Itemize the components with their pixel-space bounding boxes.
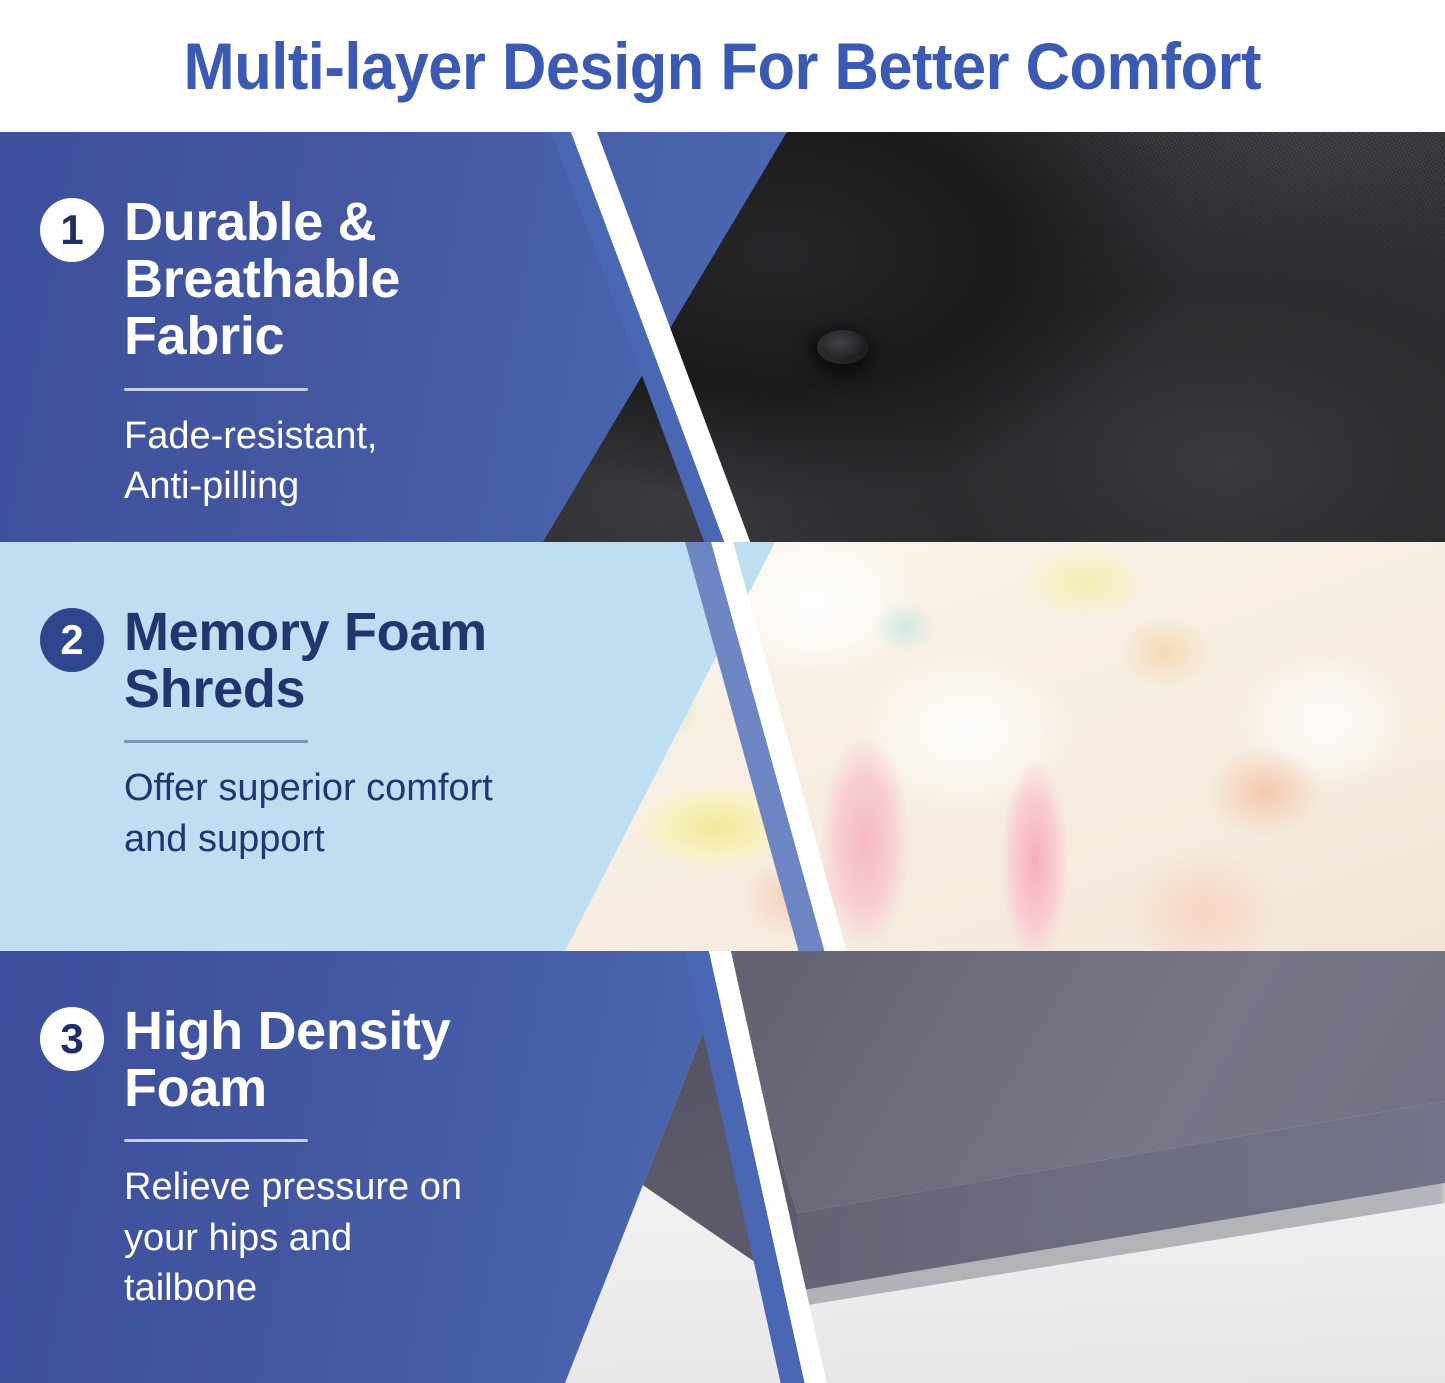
panel-3-heading-row: 3 High Density Foam bbox=[40, 1003, 570, 1117]
panel-3-subtitle: Relieve pressure on your hips and tailbo… bbox=[124, 1162, 570, 1312]
panel-2-content: 2 Memory Foam Shreds Offer superior comf… bbox=[40, 542, 570, 951]
feature-panel-1: 1 Durable & Breathable Fabric Fade-resis… bbox=[0, 132, 1445, 542]
panel-2-divider-rule bbox=[124, 740, 308, 743]
panel-2-subtitle: Offer superior comfort and support bbox=[124, 763, 570, 863]
panel-3-divider-rule bbox=[124, 1139, 308, 1142]
panel-3-content: 3 High Density Foam Relieve pressure on … bbox=[40, 951, 570, 1383]
headline-bar: Multi-layer Design For Better Comfort bbox=[0, 0, 1445, 132]
page-title: Multi-layer Design For Better Comfort bbox=[184, 33, 1262, 99]
feature-panel-3: 3 High Density Foam Relieve pressure on … bbox=[0, 951, 1445, 1383]
step-number-badge-2: 2 bbox=[40, 608, 104, 672]
product-feature-infographic: Multi-layer Design For Better Comfort 1 … bbox=[0, 0, 1445, 1383]
panel-1-subtitle: Fade-resistant, Anti-pilling bbox=[124, 411, 570, 511]
step-number-badge-1: 1 bbox=[40, 198, 104, 262]
panel-2-title: Memory Foam Shreds bbox=[124, 604, 487, 718]
panel-1-title: Durable & Breathable Fabric bbox=[124, 194, 570, 366]
panel-1-heading-row: 1 Durable & Breathable Fabric bbox=[40, 194, 570, 366]
fabric-button-tuft bbox=[817, 330, 869, 364]
panel-2-heading-row: 2 Memory Foam Shreds bbox=[40, 604, 570, 718]
panel-3-title: High Density Foam bbox=[124, 1003, 450, 1117]
step-number-badge-3: 3 bbox=[40, 1007, 104, 1071]
panel-1-content: 1 Durable & Breathable Fabric Fade-resis… bbox=[40, 132, 570, 542]
feature-panel-2: 2 Memory Foam Shreds Offer superior comf… bbox=[0, 542, 1445, 951]
panel-1-divider-rule bbox=[124, 388, 308, 391]
